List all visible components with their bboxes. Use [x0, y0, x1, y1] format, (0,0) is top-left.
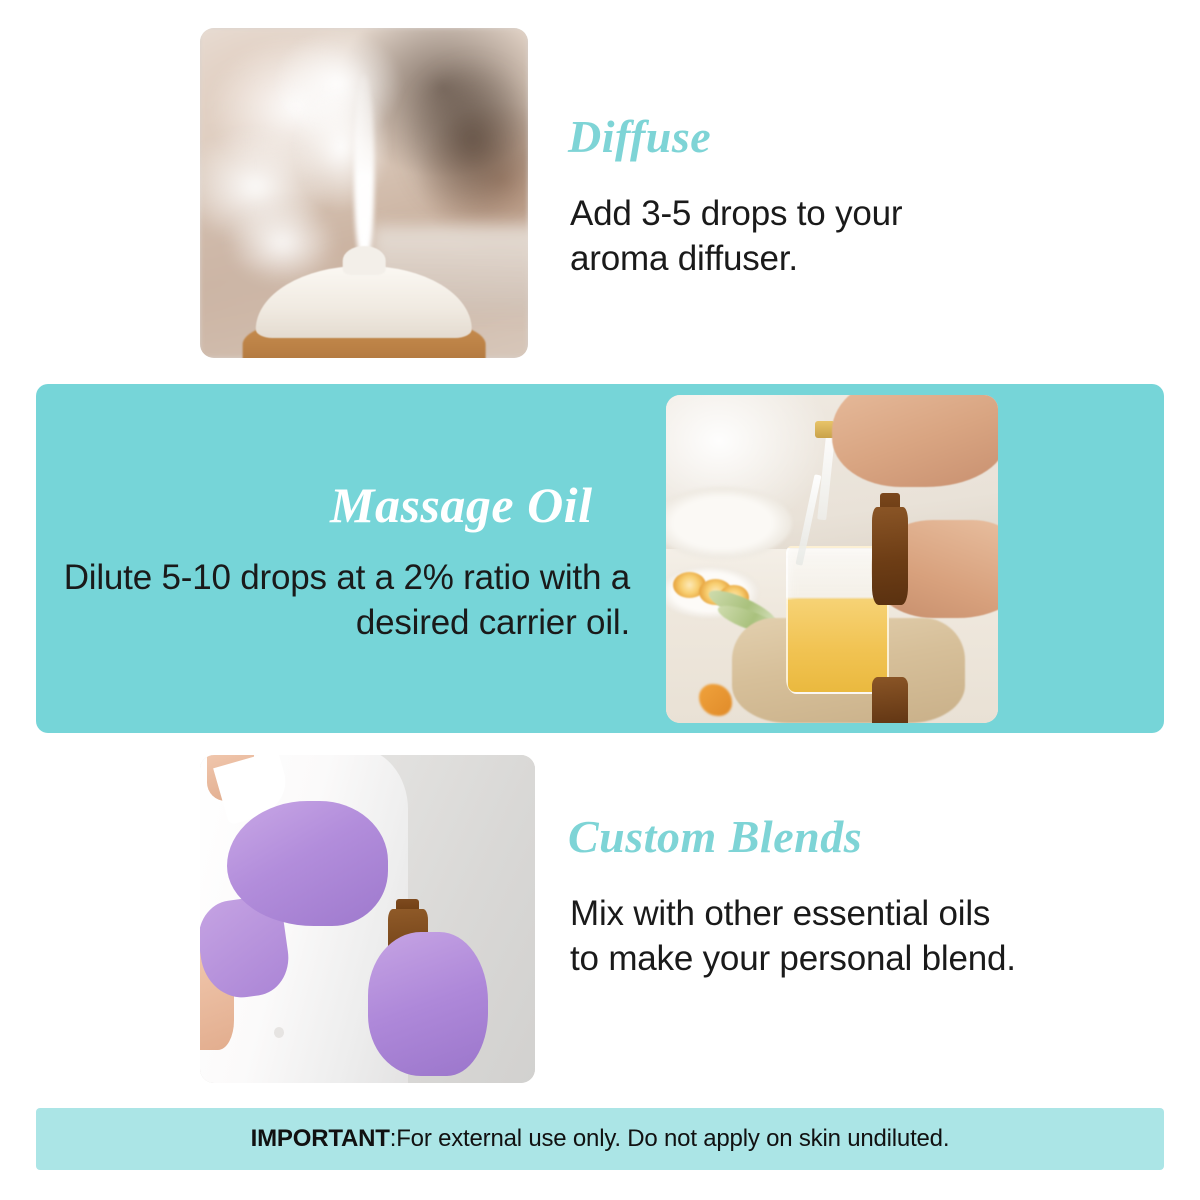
- massage-oil-photo: [666, 395, 998, 723]
- important-notice: IMPORTANT: For external use only. Do not…: [36, 1108, 1164, 1170]
- steam-plume: [354, 74, 374, 259]
- section-heading-massage-oil: Massage Oil: [330, 480, 592, 530]
- diffuser-nozzle: [343, 246, 386, 276]
- important-text: For external use only. Do not apply on s…: [396, 1125, 949, 1153]
- section-body-custom-blends: Mix with other essential oils to make yo…: [570, 892, 1020, 982]
- amber-bottle-secondary: [872, 677, 909, 723]
- amber-bottle: [872, 507, 909, 605]
- section-heading-custom-blends: Custom Blends: [568, 814, 862, 860]
- custom-blends-photo: [200, 755, 535, 1083]
- section-body-diffuse: Add 3-5 drops to your aroma diffuser.: [570, 192, 1000, 282]
- infographic-canvas: Diffuse Add 3-5 drops to your aroma diff…: [0, 0, 1200, 1200]
- purple-gloved-hand-lower: [368, 932, 489, 1076]
- hand-holding-dropper: [832, 395, 998, 487]
- section-heading-diffuse: Diffuse: [568, 114, 711, 160]
- section-body-massage-oil: Dilute 5-10 drops at a 2% ratio with a d…: [60, 556, 630, 646]
- diffuse-photo: [200, 28, 528, 358]
- diffuse-photo-shadow: [397, 54, 528, 226]
- purple-gloved-hand-upper: [227, 801, 388, 926]
- oil-liquid: [788, 600, 888, 692]
- important-label: IMPORTANT: [251, 1125, 390, 1153]
- steam-cloud-icon: [292, 81, 390, 213]
